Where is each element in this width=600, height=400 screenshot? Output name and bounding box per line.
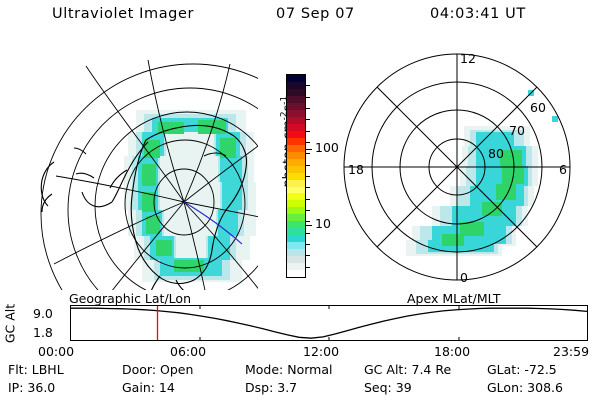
colorbar-band-1: [287, 82, 305, 89]
colorbar-minor-tick-11: [306, 199, 310, 200]
colorbar-band-12: [287, 159, 305, 166]
observation-date: 07 Sep 07: [276, 6, 355, 22]
colorbar-tick-10: [306, 225, 312, 226]
timeseries-y-axis-label: GC Alt: [3, 300, 18, 348]
status-ip: IP: 36.0: [8, 380, 55, 395]
ultraviolet-imager-window: Ultraviolet Imager 07 Sep 07 04:03:41 UT: [0, 0, 600, 400]
status-flt: Flt: LBHL: [8, 362, 64, 377]
colorbar-minor-tick-7: [306, 153, 310, 154]
colorbar-minor-tick-9: [306, 176, 310, 177]
mlt-label-18: 18: [348, 162, 364, 177]
timeseries-xtick-0600: 06:00: [170, 344, 206, 359]
colorbar-band-15: [287, 180, 305, 187]
colorbar-minor-tick-13: [306, 221, 310, 222]
mlt-label-0: 0: [460, 270, 468, 285]
colorbar-band-23: [287, 235, 305, 242]
colorbar-band-9: [287, 138, 305, 145]
colorbar-band-10: [287, 145, 305, 152]
colorbar-band-7: [287, 124, 305, 131]
status-block: Flt: LBHLDoor: OpenMode: NormalGC Alt: 7…: [0, 362, 600, 400]
colorbar-group: photon cm-2s-1 10010: [258, 70, 334, 286]
colorbar-minor-tick-4: [306, 119, 310, 120]
mlt-spokes: [344, 54, 570, 280]
colorbar-minor-tick-16: [306, 255, 310, 256]
observation-time: 04:03:41 UT: [430, 6, 526, 22]
colorbar-minor-tick-1: [306, 85, 310, 86]
colorbar-band-4: [287, 103, 305, 110]
colorbar-minor-tick-12: [306, 210, 310, 211]
status-gc-alt: GC Alt: 7.4 Re: [364, 362, 451, 377]
colorbar-minor-tick-3: [306, 108, 310, 109]
colorbar-band-11: [287, 152, 305, 159]
colorbar-band-17: [287, 193, 305, 200]
colorbar-band-21: [287, 221, 305, 228]
apex-polar-panel: 12 18 6 0 60 70 80: [336, 44, 586, 290]
timeseries-xtick-1800: 18:00: [434, 344, 470, 359]
colorbar-band-24: [287, 242, 305, 249]
status-gain: Gain: 14: [122, 380, 175, 395]
colorbar-minor-tick-17: [306, 267, 310, 268]
colorbar-band-13: [287, 166, 305, 173]
timeseries-ytick-low: 1.8: [33, 325, 53, 340]
colorbar-band-2: [287, 89, 305, 96]
colorbar-minor-tick-8: [306, 165, 310, 166]
status-glon: GLon: 308.6: [487, 380, 563, 395]
colorbar-minor-tick-2: [306, 97, 310, 98]
colorbar-minor-tick-6: [306, 142, 310, 143]
colorbar-band-0: [287, 75, 305, 82]
status-glat: GLat: -72.5: [487, 362, 557, 377]
colorbar-band-3: [287, 96, 305, 103]
timeseries-xtick-1200: 12:00: [303, 344, 339, 359]
mlat-label-70: 70: [509, 123, 525, 138]
colorbar-band-18: [287, 200, 305, 207]
geographic-map-svg: [8, 44, 258, 290]
status-seq: Seq: 39: [364, 380, 412, 395]
altitude-timeseries-panel: GC Alt 9.0 1.8 00:0006:0012:0018:0023:59: [0, 300, 600, 356]
colorbar-minor-tick-5: [306, 131, 310, 132]
status-dsp: Dsp: 3.7: [245, 380, 297, 395]
mlt-label-12: 12: [460, 51, 476, 66]
colorbar-minor-tick-15: [306, 244, 310, 245]
colorbar-band-5: [287, 110, 305, 117]
geographic-map-panel: [8, 44, 258, 290]
colorbar-minor-tick-10: [306, 187, 310, 188]
apex-polar-svg: 12 18 6 0 60 70 80: [336, 44, 586, 290]
colorbar-tick-100: [306, 149, 312, 150]
instrument-title: Ultraviolet Imager: [52, 6, 194, 22]
colorbar-band-20: [287, 214, 305, 221]
colorbar-minor-tick-14: [306, 233, 310, 234]
colorbar-band-6: [287, 117, 305, 124]
mlat-label-60: 60: [530, 100, 546, 115]
colorbar-band-26: [287, 256, 305, 263]
colorbar-band-14: [287, 173, 305, 180]
colorbar-band-19: [287, 207, 305, 214]
mlt-label-6: 6: [559, 162, 567, 177]
header-bar: Ultraviolet Imager 07 Sep 07 04:03:41 UT: [0, 6, 600, 32]
colorbar-band-16: [287, 187, 305, 194]
timeseries-plot: [70, 305, 588, 341]
colorbar-band-25: [287, 249, 305, 256]
timeseries-ytick-high: 9.0: [33, 306, 53, 321]
colorbar-band-27: [287, 263, 305, 270]
colorbar-tick-label-10: 10: [315, 218, 331, 231]
timeseries-xtick-0000: 00:00: [38, 344, 74, 359]
status-door: Door: Open: [122, 362, 193, 377]
colorbar-gradient: [286, 74, 306, 278]
mlat-label-80: 80: [488, 146, 504, 161]
status-mode: Mode: Normal: [245, 362, 332, 377]
colorbar-band-8: [287, 131, 305, 138]
colorbar-band-28: [287, 270, 305, 277]
timeseries-xtick-2359: 23:59: [553, 344, 589, 359]
altitude-trace-line: [71, 308, 587, 338]
colorbar-band-22: [287, 228, 305, 235]
